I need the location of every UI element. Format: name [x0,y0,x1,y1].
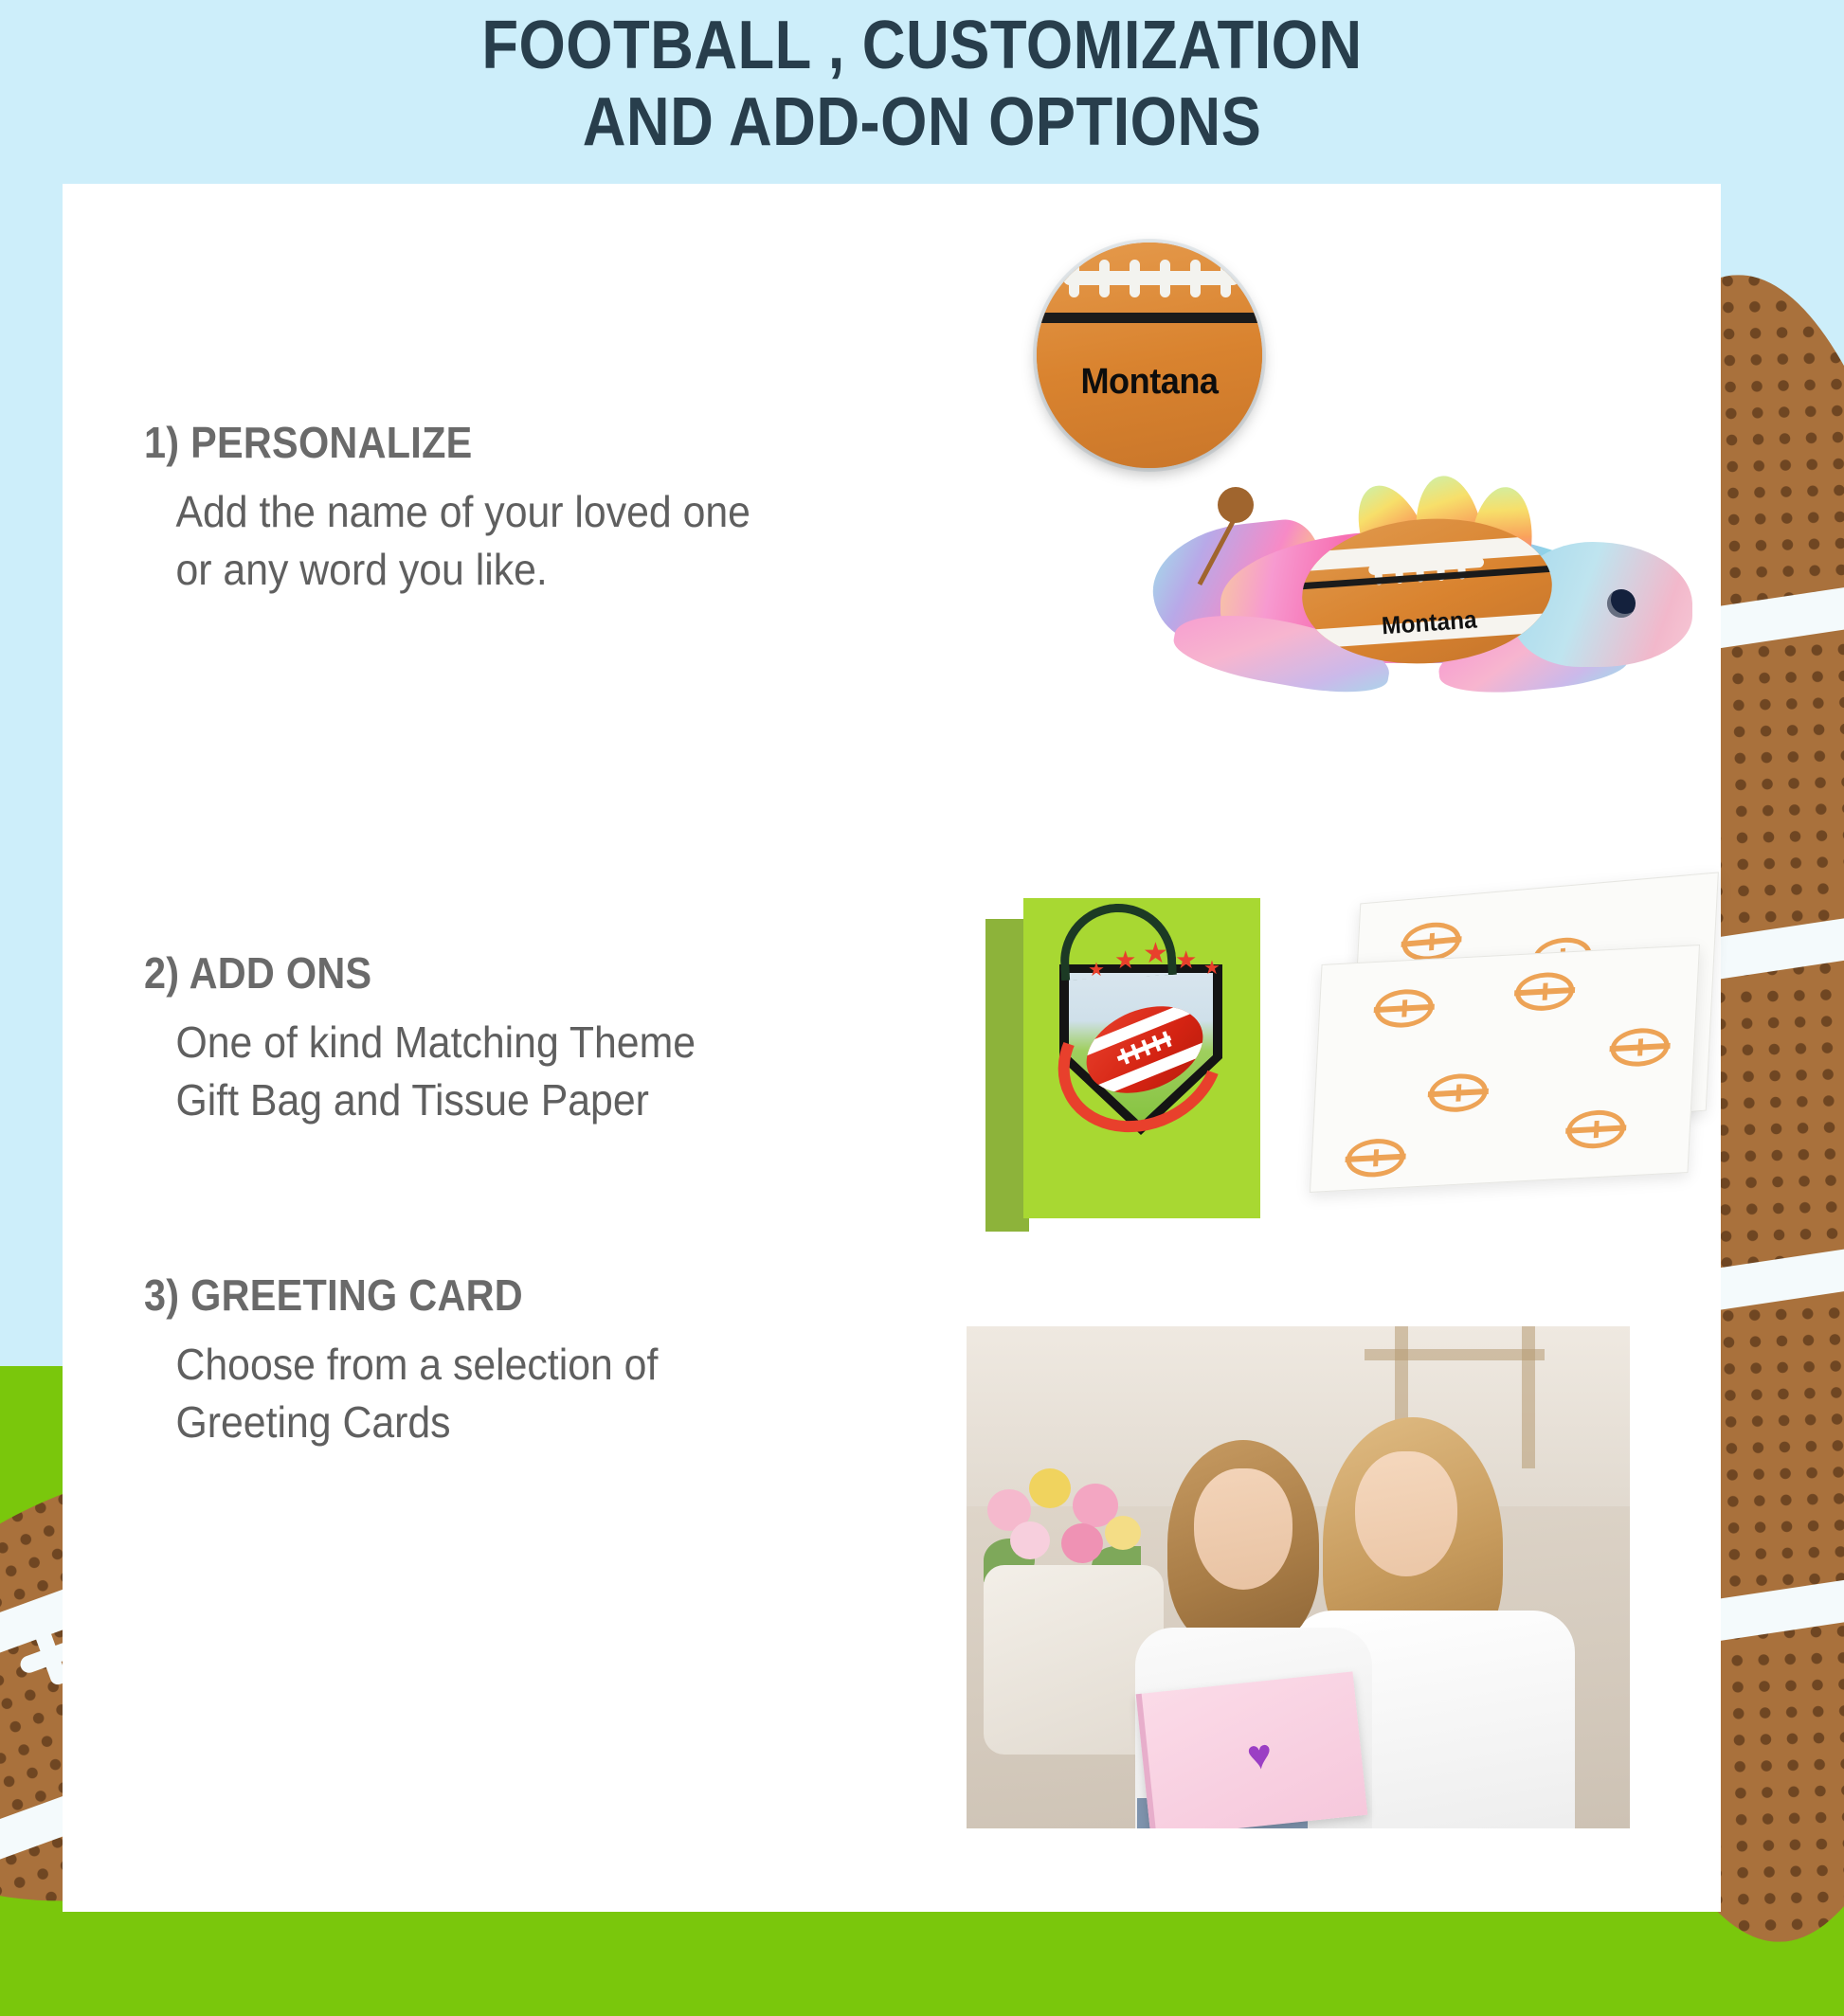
step-body-line: or any word you like. [175,541,831,599]
step-greeting-card: 3) GREETING CARD Choose from a selection… [144,1269,883,1450]
greeting-card-photo: ♥ [967,1326,1630,1828]
football-lace [1160,260,1170,297]
step-body-line: One of kind Matching Theme [175,1014,831,1071]
flower [1105,1516,1141,1550]
flower [1061,1523,1103,1563]
step-heading-greeting-card: 3) GREETING CARD [144,1269,809,1321]
step-personalize: 1) PERSONALIZE Add the name of your love… [144,417,883,598]
page-title-line-1: FOOTBALL , CUSTOMIZATION [111,8,1733,84]
star-icon: ★ [1203,959,1220,978]
tissue-paper-image [1296,889,1723,1201]
infographic-poster: FOOTBALL , CUSTOMIZATION AND ADD-ON OPTI… [0,0,1844,2016]
callout-dot-icon [1218,487,1254,523]
football-lace [1130,260,1140,297]
flower [1010,1521,1050,1559]
plush-eye [1607,589,1636,618]
star-icon: ★ [1175,947,1197,972]
football-seam [1037,313,1262,323]
step-add-ons: 2) ADD ONS One of kind Matching Theme Gi… [144,947,883,1128]
photo-person-left-face [1194,1468,1293,1590]
photo-open-greeting-card: ♥ [1136,1671,1368,1828]
axolotl-plush-toy: Montana [1040,493,1685,729]
football-pattern-icon [1374,988,1435,1029]
step-body-line: Add the name of your loved one [175,483,831,541]
football-pattern-icon [1346,1138,1406,1179]
star-icon: ★ [1114,947,1136,972]
football-pattern-icon [1565,1108,1626,1149]
step-body-line: Greeting Cards [175,1394,831,1451]
photo-shelf [1365,1349,1545,1360]
step-body-greeting-card: Choose from a selection of Greeting Card… [144,1336,831,1450]
photo-shelf [1522,1326,1535,1468]
tissue-sheet-front [1310,945,1700,1193]
step-heading-personalize: 1) PERSONALIZE [144,417,809,468]
football-pattern-icon [1610,1027,1671,1068]
football-pattern-icon [1428,1072,1489,1113]
football-pattern-icon [1514,971,1575,1012]
step-heading-add-ons: 2) ADD ONS [144,947,809,999]
photo-person-right-face [1355,1451,1457,1576]
page-title-line-2: AND ADD-ON OPTIONS [111,84,1733,161]
football-lace [1220,260,1231,297]
flower [1029,1468,1071,1508]
star-icon: ★ [1143,940,1168,968]
personalized-name-magnified: Montana [1042,362,1256,403]
football-lace [1069,260,1079,297]
step-body-line: Gift Bag and Tissue Paper [175,1071,831,1129]
page-title: FOOTBALL , CUSTOMIZATION AND ADD-ON OPTI… [111,8,1733,160]
football-lace [1190,260,1201,297]
gift-bag-image: ★ ★ ★ ★ ★ [985,898,1260,1232]
magnified-football-closeup: Montana [1037,243,1262,468]
football-lace-bar [1063,271,1239,285]
step-body-personalize: Add the name of your loved one or any wo… [144,483,831,598]
step-body-line: Choose from a selection of [175,1336,831,1394]
star-icon: ★ [1088,961,1105,980]
step-body-add-ons: One of kind Matching Theme Gift Bag and … [144,1014,831,1128]
heart-icon: ♥ [1245,1732,1294,1778]
football-lace [1099,260,1110,297]
